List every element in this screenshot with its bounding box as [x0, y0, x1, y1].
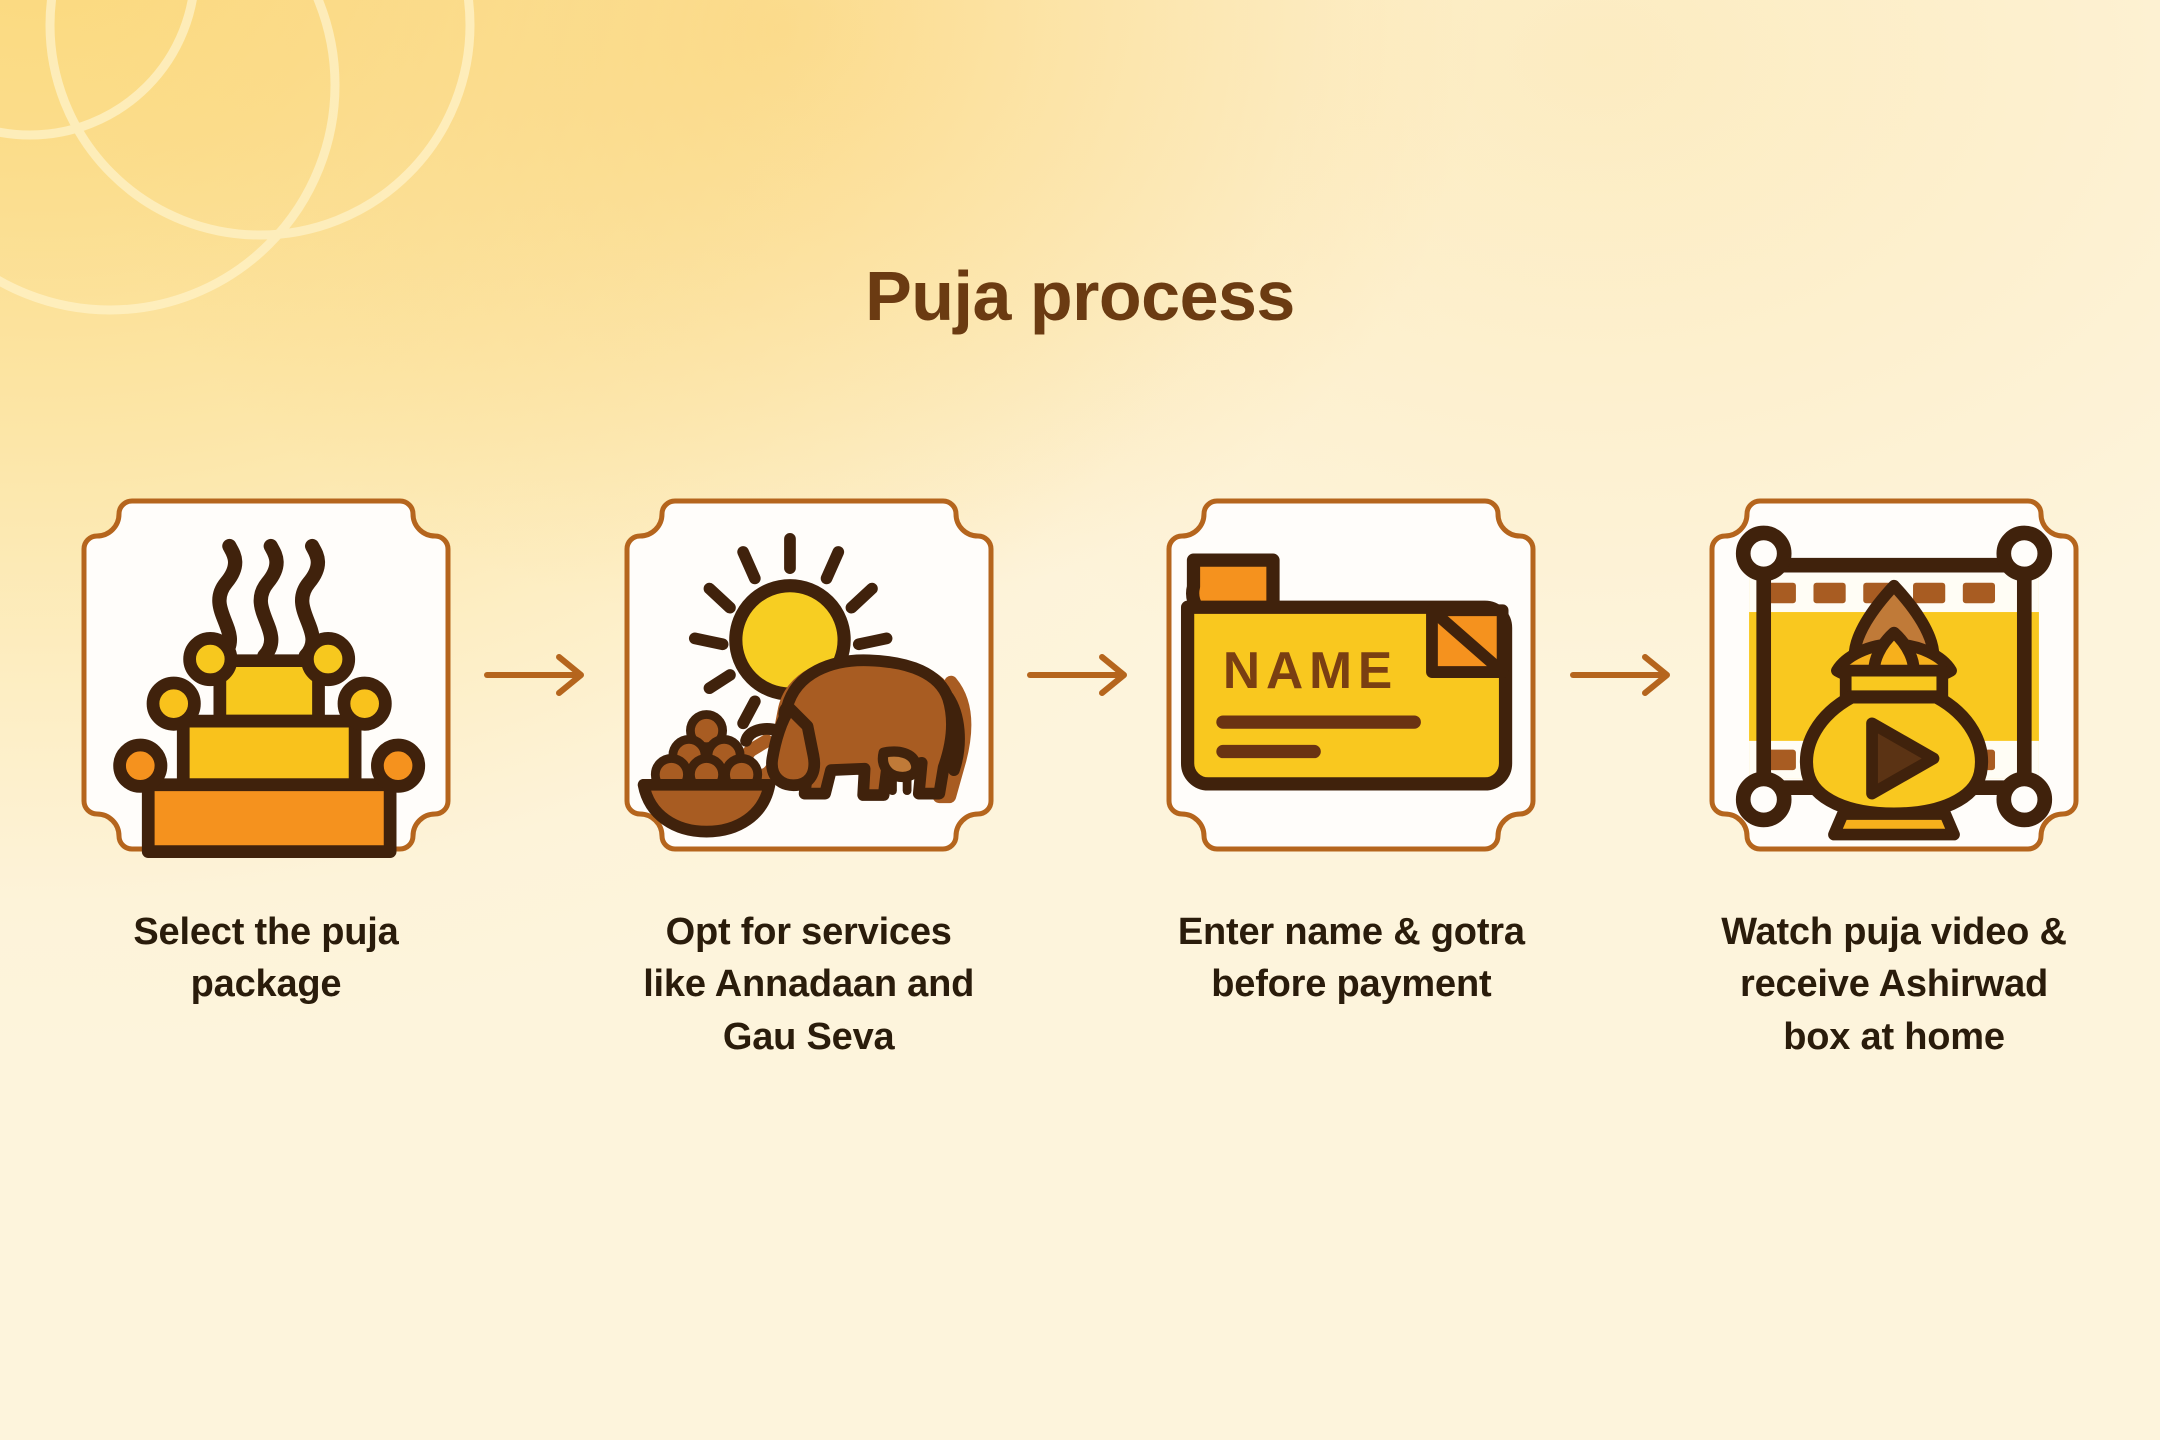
step-2-icon-holder: [625, 492, 993, 858]
step-4-icon-holder: [1710, 492, 2078, 858]
step-4-card[interactable]: [1710, 492, 2078, 858]
step-2-caption: Opt for services like Annadaan and Gau S…: [625, 906, 993, 1063]
cow-seva-icon: [625, 492, 993, 858]
arrow-right-icon: [485, 653, 589, 697]
background-circles-decoration: [0, 0, 480, 410]
puja-video-kalash-icon: [1710, 492, 2078, 858]
connector-2: [993, 492, 1168, 858]
arrow-right-icon: [1028, 653, 1132, 697]
step-1-icon-holder: [82, 492, 450, 858]
process-step-3: NAME Enter name & gotra before payment: [1167, 492, 1535, 1011]
step-1-card[interactable]: [82, 492, 450, 858]
step-4-caption: Watch puja video & receive Ashirwad box …: [1710, 906, 2078, 1063]
page-title: Puja process: [0, 256, 2160, 336]
step-1-caption: Select the puja package: [82, 906, 450, 1011]
name-card-text: NAME: [1223, 641, 1398, 699]
connector-3: [1535, 492, 1710, 858]
step-3-caption: Enter name & gotra before payment: [1167, 906, 1535, 1011]
step-3-icon-holder: NAME: [1167, 492, 1535, 858]
puja-altar-icon: [82, 492, 450, 858]
step-3-card[interactable]: NAME: [1167, 492, 1535, 858]
process-step-4: Watch puja video & receive Ashirwad box …: [1710, 492, 2078, 1063]
connector-1: [450, 492, 625, 858]
infographic-canvas: Puja process: [0, 0, 2160, 1440]
process-flow: Select the puja package: [82, 492, 2078, 1063]
name-card-icon: NAME: [1167, 492, 1535, 858]
arrow-right-icon: [1571, 653, 1675, 697]
process-step-2: Opt for services like Annadaan and Gau S…: [625, 492, 993, 1063]
process-step-1: Select the puja package: [82, 492, 450, 1011]
step-2-card[interactable]: [625, 492, 993, 858]
